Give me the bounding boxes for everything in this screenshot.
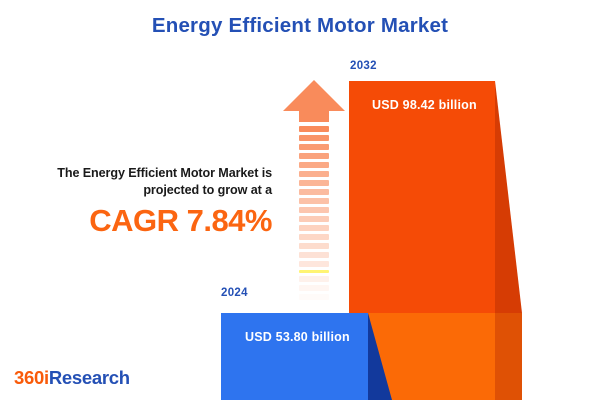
bar-2024-side bbox=[368, 313, 392, 400]
arrow-stripe bbox=[299, 261, 329, 267]
arrow-stripe bbox=[299, 270, 329, 273]
arrow-stripe bbox=[299, 243, 329, 249]
arrow-stripe bbox=[299, 189, 329, 195]
cagr-lead-text: The Energy Efficient Motor Market is pro… bbox=[10, 165, 272, 199]
arrow-stripe bbox=[299, 216, 329, 222]
arrow-stripe bbox=[299, 135, 329, 141]
year-label-2024: 2024 bbox=[221, 287, 248, 299]
arrow-stripe bbox=[299, 144, 329, 150]
cagr-value: CAGR 7.84% bbox=[10, 204, 272, 238]
growth-arrow-icon bbox=[283, 80, 345, 292]
arrow-neck bbox=[299, 111, 329, 122]
brand-logo[interactable]: 360iResearch bbox=[14, 367, 130, 389]
cagr-callout: The Energy Efficient Motor Market is pro… bbox=[10, 165, 272, 238]
logo-research: Research bbox=[49, 367, 130, 388]
arrow-stripe bbox=[299, 294, 329, 300]
arrow-stripe bbox=[299, 303, 329, 309]
bar-value-2024: USD 53.80 billion bbox=[245, 330, 350, 344]
arrow-stripe bbox=[299, 153, 329, 159]
arrow-head bbox=[283, 80, 345, 111]
arrow-stripe bbox=[299, 126, 329, 132]
arrow-stripe bbox=[299, 285, 329, 291]
arrow-stripe bbox=[299, 252, 329, 258]
infographic-canvas: Energy Efficient Motor Market 2032 USD 9… bbox=[0, 0, 600, 400]
arrow-stripe bbox=[299, 162, 329, 168]
cagr-lead-line-2: projected to grow at a bbox=[143, 183, 272, 197]
arrow-stripe-stack bbox=[299, 126, 329, 321]
bar-2024-front bbox=[221, 313, 368, 400]
arrow-stripe bbox=[299, 234, 329, 240]
bar-2032-front-upper bbox=[349, 81, 495, 313]
page-title: Energy Efficient Motor Market bbox=[0, 14, 600, 38]
arrow-stripe bbox=[299, 225, 329, 231]
year-label-2032: 2032 bbox=[350, 60, 377, 72]
arrow-stripe bbox=[299, 207, 329, 213]
arrow-stripe bbox=[299, 198, 329, 204]
logo-360i: 360i bbox=[14, 367, 49, 388]
bar-2032-side-lower bbox=[495, 313, 522, 400]
arrow-stripe bbox=[299, 180, 329, 186]
cagr-lead-line-1: The Energy Efficient Motor Market is bbox=[57, 166, 272, 180]
bar-2032-side-upper bbox=[495, 81, 522, 313]
bar-value-2032: USD 98.42 billion bbox=[372, 98, 477, 112]
bar-2024[interactable]: USD 53.80 billion bbox=[221, 313, 392, 400]
arrow-stripe bbox=[299, 171, 329, 177]
arrow-stripe bbox=[299, 276, 329, 282]
